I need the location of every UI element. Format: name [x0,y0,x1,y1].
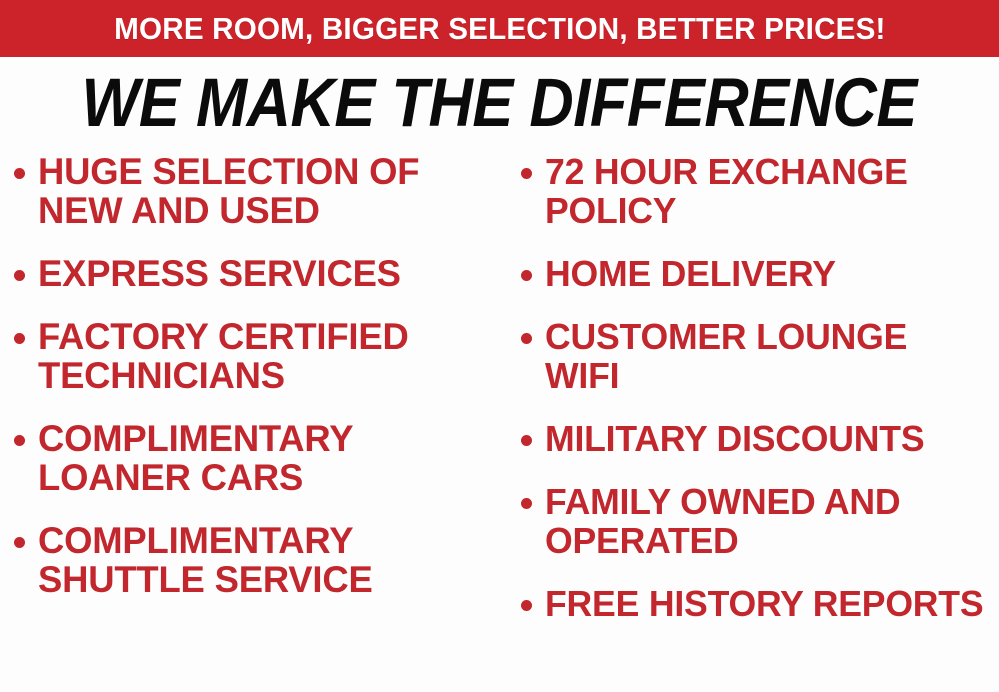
bullet-dot-icon [14,333,25,344]
bullet-dot-icon [521,600,532,611]
bullet-dot-icon [14,435,25,446]
bullet-dot-icon [14,168,25,179]
list-item: HOME DELIVERY [521,254,997,293]
list-item-label: FAMILY OWNED AND OPERATED [545,482,986,560]
list-item-label: EXPRESS SERVICES [38,254,494,293]
bullet-dot-icon [14,537,25,548]
bullet-dot-icon [521,498,532,509]
list-item: CUSTOMER LOUNGE WIFI [521,317,997,395]
promo-banner: MORE ROOM, BIGGER SELECTION, BETTER PRIC… [0,0,999,57]
features-columns: HUGE SELECTION OF NEW AND USED EXPRESS S… [0,152,999,692]
list-item-label: HUGE SELECTION OF NEW AND USED [38,152,494,230]
list-item: FAMILY OWNED AND OPERATED [521,482,997,560]
list-item-label: COMPLIMENTARY LOANER CARS [38,419,494,497]
bullet-dot-icon [14,270,25,281]
headline-container: WE MAKE THE DIFFERENCE [0,64,999,140]
features-column-right: 72 HOUR EXCHANGE POLICY HOME DELIVERY CU… [505,152,999,692]
list-item-label: 72 HOUR EXCHANGE POLICY [545,152,986,230]
promo-banner-text: MORE ROOM, BIGGER SELECTION, BETTER PRIC… [114,13,885,44]
list-item: FACTORY CERTIFIED TECHNICIANS [14,317,501,395]
list-item-label: FREE HISTORY REPORTS [545,584,986,623]
bullet-dot-icon [521,270,532,281]
list-item-label: HOME DELIVERY [545,254,986,293]
advertisement-banner: MORE ROOM, BIGGER SELECTION, BETTER PRIC… [0,0,999,692]
bullet-dot-icon [521,333,532,344]
list-item: FREE HISTORY REPORTS [521,584,997,623]
list-item-label: MILITARY DISCOUNTS [545,419,986,458]
features-column-left: HUGE SELECTION OF NEW AND USED EXPRESS S… [0,152,505,692]
page-title: WE MAKE THE DIFFERENCE [82,68,917,137]
list-item: COMPLIMENTARY LOANER CARS [14,419,501,497]
list-item: EXPRESS SERVICES [14,254,501,293]
list-item: HUGE SELECTION OF NEW AND USED [14,152,501,230]
list-item: 72 HOUR EXCHANGE POLICY [521,152,997,230]
bullet-dot-icon [521,435,532,446]
bullet-dot-icon [521,168,532,179]
list-item-label: CUSTOMER LOUNGE WIFI [545,317,986,395]
list-item-label: COMPLIMENTARY SHUTTLE SERVICE [38,521,494,599]
list-item: MILITARY DISCOUNTS [521,419,997,458]
list-item-label: FACTORY CERTIFIED TECHNICIANS [38,317,494,395]
list-item: COMPLIMENTARY SHUTTLE SERVICE [14,521,501,599]
